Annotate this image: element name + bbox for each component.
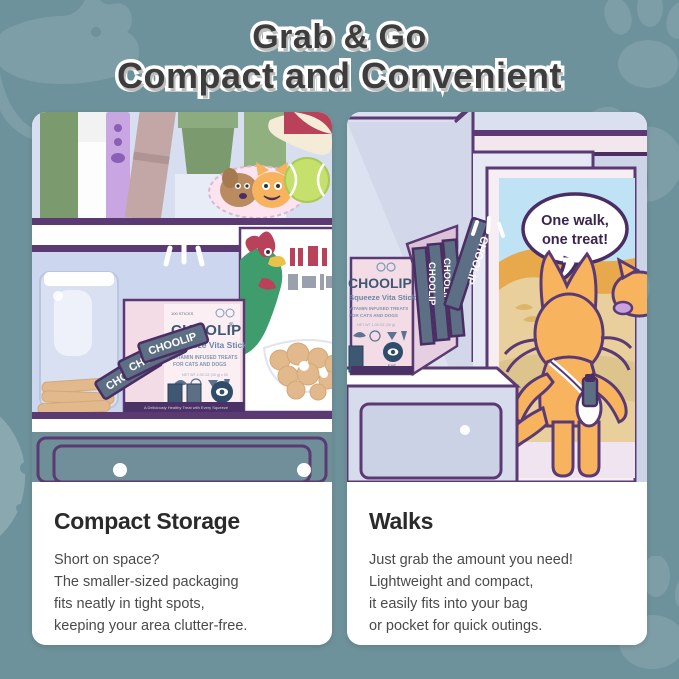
svg-text:FOR CATS AND DOGS: FOR CATS AND DOGS [173,362,227,368]
svg-text:NET WT 1.05 OZ (30 g): NET WT 1.05 OZ (30 g) [357,323,395,327]
bubble-line-2: one treat! [542,232,608,248]
caption-line: fits neatly in tight spots, [54,593,310,615]
cabinet-scene-svg: 100 STICKS CHOOLIP ® Squeeze Vita Stick … [32,112,332,482]
svg-text:A Deliciously Healthy Treat wi: A Deliciously Healthy Treat with Every S… [144,405,229,410]
caption-line: keeping your area clutter-free. [54,615,310,637]
svg-text:CHOOLIP: CHOOLIP [348,275,412,291]
doorway-scene-svg: One walk, one treat! [347,112,647,482]
caption-compact-storage: Compact Storage Short on space? The smal… [32,482,332,645]
svg-text:100 STICKS: 100 STICKS [171,311,194,316]
card-compact-storage[interactable]: 100 STICKS CHOOLIP ® Squeeze Vita Stick … [32,112,332,645]
svg-text:FOR CATS AND DOGS: FOR CATS AND DOGS [349,313,398,318]
page-title: Grab & Go Compact and Convenient [0,18,679,96]
illustration-cat-doorway: One walk, one treat! [347,112,647,482]
caption-body: Short on space? The smaller-sized packag… [54,549,310,637]
caption-line: Just grab the amount you need! [369,549,625,571]
title-line-1: Grab & Go [0,18,679,56]
svg-text:VITAMIN INFUSED TREATS: VITAMIN INFUSED TREATS [349,306,408,311]
poster-canvas: Grab & Go Compact and Convenient [0,0,679,679]
title-line-2: Compact and Convenient [0,56,679,96]
svg-text:®: ® [229,322,234,329]
bubble-line-1: One walk, [541,213,609,229]
caption-walks: Walks Just grab the amount you need! Lig… [347,482,647,645]
svg-text:CHOOLIP: CHOOLIP [426,262,437,306]
caption-title: Walks [369,508,625,535]
illustration-cabinet-shelf: 100 STICKS CHOOLIP ® Squeeze Vita Stick … [32,112,332,482]
caption-body: Just grab the amount you need! Lightweig… [369,549,625,637]
card-walks[interactable]: One walk, one treat! [347,112,647,645]
cereal-box [240,228,332,412]
svg-text:VITAMIN INFUSED TREATS: VITAMIN INFUSED TREATS [173,355,238,361]
treat-stick [583,378,597,406]
caption-line: Lightweight and compact, [369,571,625,593]
caption-line: or pocket for quick outings. [369,615,625,637]
caption-line: Short on space? [54,549,310,571]
svg-text:NET WT 1.05 OZ (30 g) x 20: NET WT 1.05 OZ (30 g) x 20 [182,373,228,377]
svg-text:Squeeze Vita Stick: Squeeze Vita Stick [349,293,417,302]
caption-title: Compact Storage [54,508,310,535]
caption-line: it easily fits into your bag [369,593,625,615]
caption-line: The smaller-sized packaging [54,571,310,593]
